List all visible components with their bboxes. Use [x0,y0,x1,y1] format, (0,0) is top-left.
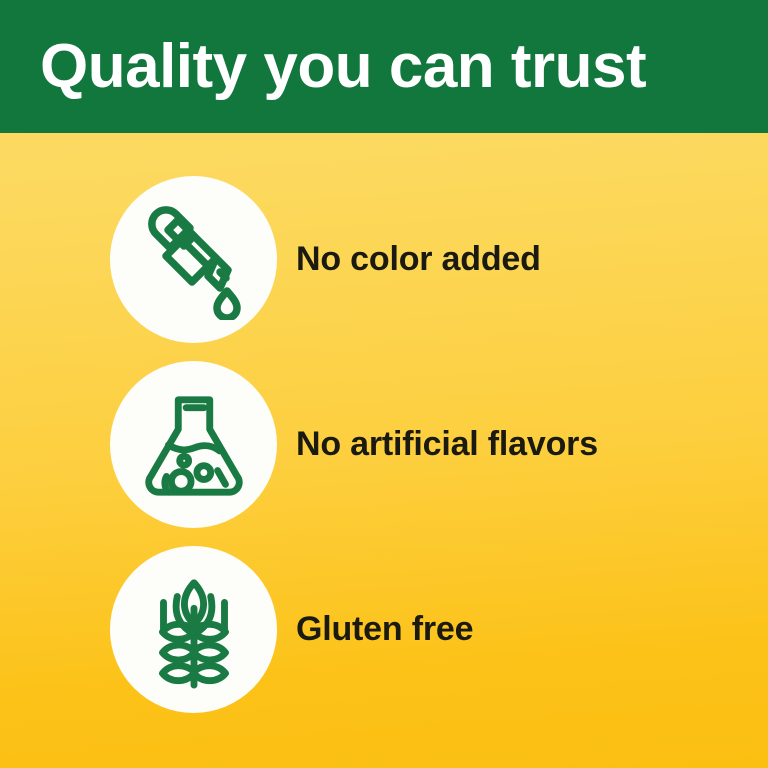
icon-badge [110,546,277,713]
list-item: Gluten free [0,537,768,722]
icon-badge [110,361,277,528]
list-item-label: No color added [296,241,541,278]
header-banner: Quality you can trust [0,0,768,133]
eyedropper-icon [134,200,254,320]
page-title: Quality you can trust [0,36,646,98]
list-item-label: Gluten free [296,611,473,648]
list-item-label: No artificial flavors [296,426,598,463]
list-item: No color added [0,167,768,352]
wheat-icon [136,569,252,691]
list-item: No artificial flavors [0,352,768,537]
feature-list: No color added [0,133,768,768]
icon-badge [110,176,277,343]
quality-claims-poster: Quality you can trust [0,0,768,768]
flask-icon [135,386,253,504]
